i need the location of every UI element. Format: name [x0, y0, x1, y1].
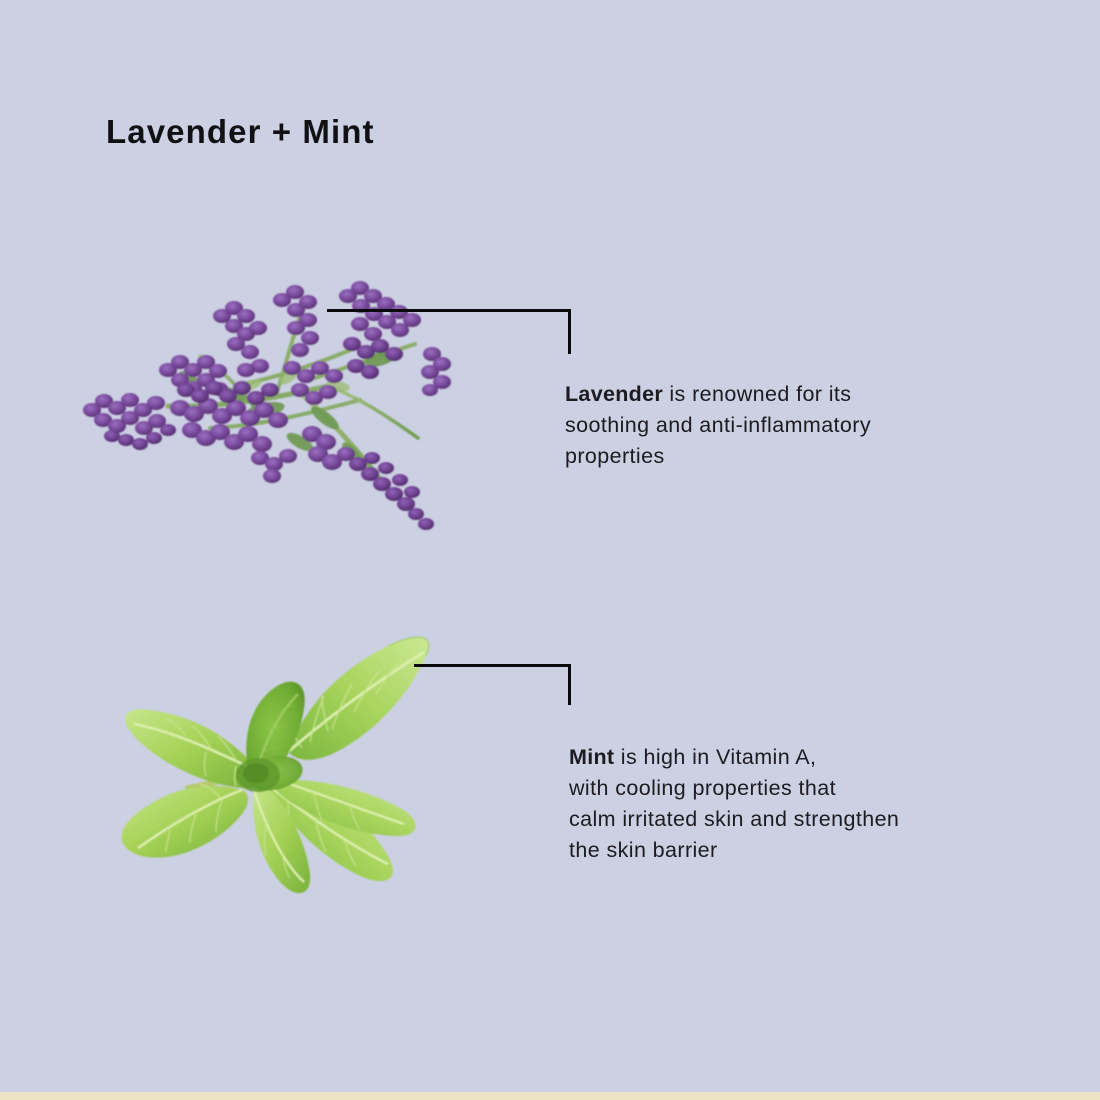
leader-line-lavender-vertical — [568, 309, 571, 354]
lavender-caption-line-1: Lavender is renowned for its — [565, 379, 871, 410]
ingredient-infographic: Lavender + Mint — [0, 0, 1100, 1100]
mint-caption-lead: Mint — [569, 745, 614, 769]
leader-line-lavender-horizontal — [327, 309, 571, 312]
lavender-caption-line-1-text: is renowned for its — [663, 382, 851, 406]
lavender-caption-lead: Lavender — [565, 382, 663, 406]
lavender-caption-line-2: soothing and anti-inflammatory — [565, 410, 871, 441]
leader-line-mint — [414, 664, 571, 705]
mint-leaves-image — [88, 612, 453, 897]
mint-caption-line-1-text: is high in Vitamin A, — [614, 745, 816, 769]
mint-caption-line-3: calm irritated skin and strengthen — [569, 804, 899, 835]
leader-line-mint-vertical — [568, 664, 571, 705]
bottom-accent-strip — [0, 1092, 1100, 1100]
mint-caption: Mint is high in Vitamin A, with cooling … — [569, 742, 899, 866]
lavender-caption-line-3: properties — [565, 441, 871, 472]
lavender-caption: Lavender is renowned for its soothing an… — [565, 379, 871, 472]
mint-caption-line-2: with cooling properties that — [569, 773, 899, 804]
leader-line-lavender — [327, 309, 571, 354]
lavender-sprig-image — [60, 258, 460, 543]
mint-caption-line-1: Mint is high in Vitamin A, — [569, 742, 899, 773]
mint-caption-line-4: the skin barrier — [569, 835, 899, 866]
page-title: Lavender + Mint — [106, 113, 375, 151]
leader-line-mint-horizontal — [414, 664, 571, 667]
